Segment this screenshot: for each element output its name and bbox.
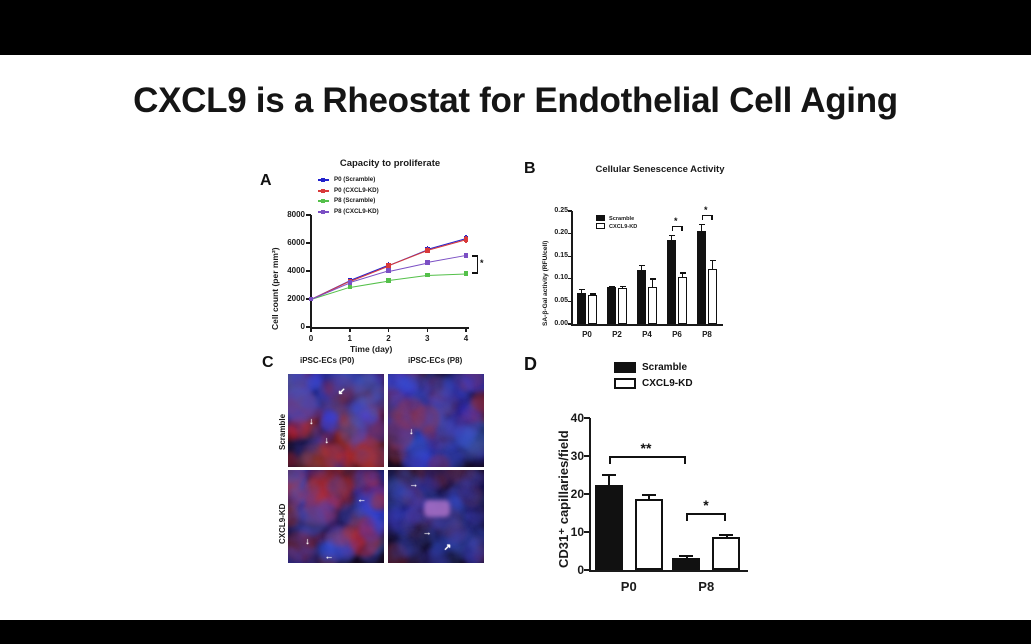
- micrograph-arrow-marker: ↓: [309, 417, 314, 426]
- panel-b-y-tick: [568, 301, 572, 302]
- panel-a-x-tick-label: 1: [342, 334, 358, 343]
- panel-d-y-tick: [584, 493, 590, 495]
- panel-d-error-cap: [602, 474, 616, 476]
- panel-a-x-tick: [427, 327, 429, 332]
- micrograph-blob: [371, 494, 384, 510]
- panel-b-bar: [588, 295, 597, 324]
- micrograph-arrow-marker: ↓: [305, 537, 310, 546]
- slide-title: CXCL9 is a Rheostat for Endothelial Cell…: [0, 81, 1031, 121]
- panel-a-title: Capacity to proliferate: [300, 158, 480, 169]
- panel-a-legend-marker: [321, 199, 325, 203]
- panel-b-y-tick: [568, 233, 572, 234]
- panel-b-y-tick: [568, 210, 572, 211]
- micrograph-arrow-marker: ↙: [338, 387, 346, 396]
- panel-a-data-point: [386, 263, 391, 268]
- bracket-right: [681, 226, 682, 231]
- panel-a-series-line: [427, 240, 466, 252]
- bracket-left: [609, 456, 611, 464]
- panel-d-y-tick: [584, 569, 590, 571]
- panel-a-legend-label: P0 (CXCL9-KD): [334, 187, 379, 194]
- panel-c-row-label-cxcl9kd: CXCL9-KD: [278, 504, 287, 544]
- panel-a-legend-label: P0 (Scramble): [334, 176, 375, 183]
- panel-a-legend-label: P8 (CXCL9-KD): [334, 208, 379, 215]
- panel-d-letter: D: [524, 354, 537, 375]
- panel-d-legend-label: CXCL9-KD: [642, 378, 693, 389]
- panel-a-data-point: [464, 253, 469, 258]
- panel-c: C iPSC-ECs (P0) iPSC-ECs (P8) Scramble C…: [258, 352, 508, 602]
- panel-a-significance-bracket: [472, 255, 478, 273]
- panel-a-legend-marker: [321, 210, 325, 214]
- panel-b-significance-bracket: [672, 226, 683, 231]
- panel-b-x-tick-label: P8: [693, 330, 721, 339]
- panel-b-x-tick-label: P2: [603, 330, 631, 339]
- panel-b-bar: [648, 287, 657, 324]
- panel-b-error-cap: [620, 286, 626, 287]
- panel-d-y-tick: [584, 455, 590, 457]
- panel-b-bar: [618, 288, 627, 324]
- panel-b-bar: [697, 231, 706, 324]
- panel-c-col-header-p8: iPSC-ECs (P8): [408, 356, 462, 365]
- micrograph-arrow-marker: ↗: [444, 543, 452, 552]
- panel-b-y-tick-label: 0.20: [542, 229, 568, 236]
- panel-b-bar: [678, 277, 687, 324]
- micrograph-arrow-marker: ↓: [409, 427, 414, 436]
- panel-b-legend-swatch: [596, 215, 605, 221]
- panel-b-error-cap: [669, 235, 675, 236]
- panel-d-x-axis: [589, 570, 748, 572]
- panel-b-title: Cellular Senescence Activity: [560, 164, 760, 175]
- panel-a-data-point: [425, 273, 430, 278]
- panel-b-bar: [637, 270, 646, 324]
- bracket-left: [702, 215, 703, 220]
- panel-b-bar: [667, 240, 676, 324]
- panel-b-error-cap: [650, 278, 656, 279]
- panel-a-data-point: [464, 271, 469, 276]
- panel-a-plot-area: 0200040006000800001234*: [311, 215, 466, 327]
- panel-a-y-tick: [306, 214, 311, 216]
- panel-d-y-tick: [584, 531, 590, 533]
- scramble-p0-micrograph: ↙↓↓: [288, 374, 384, 467]
- panel-d-significance-bracket-p0-p8: [609, 456, 687, 464]
- panel-a-x-tick: [310, 327, 312, 332]
- panel-a-data-point: [348, 285, 353, 290]
- scramble-p8-micrograph: ↓: [388, 374, 484, 467]
- letterbox-bottom: [0, 620, 1031, 644]
- panel-d-y-tick: [584, 417, 590, 419]
- slide-canvas: CXCL9 is a Rheostat for Endothelial Cell…: [0, 55, 1031, 620]
- panel-b-error-cap: [639, 265, 645, 266]
- bracket-spine: [477, 255, 479, 273]
- cxcl9kd-p0-micrograph: ←↓←: [288, 470, 384, 563]
- panel-a-x-tick-label: 3: [419, 334, 435, 343]
- panel-b-significance-star: *: [704, 207, 708, 213]
- panel-b-significance-bracket: [702, 215, 713, 220]
- panel-d-significance-bracket-p8: [686, 513, 726, 521]
- panel-b-bar: [607, 287, 616, 324]
- panel-a-x-tick-label: 4: [458, 334, 474, 343]
- micrograph-bright-cell: [424, 500, 450, 517]
- panel-b-error-cap: [699, 224, 705, 225]
- bracket-right: [724, 513, 726, 521]
- micrograph-blob: [354, 474, 367, 487]
- micrograph-arrow-marker: ←: [324, 552, 333, 561]
- letterbox-top: [0, 0, 1031, 55]
- micrograph-blob: [396, 378, 411, 393]
- micrograph-blob: [333, 527, 353, 547]
- panel-b-legend-label: CXCL9-KD: [609, 224, 637, 230]
- micrograph-arrow-marker: →: [423, 528, 432, 537]
- panel-a-y-axis-label: Cell count (per mm²): [270, 247, 280, 330]
- panel-b-y-tick: [568, 256, 572, 257]
- panel-a-data-point: [386, 268, 391, 273]
- micrograph-blob: [412, 405, 439, 432]
- panel-a-x-tick: [349, 327, 351, 332]
- panel-d-bar: [672, 558, 700, 570]
- bracket-arm-top: [472, 255, 478, 257]
- panel-b-x-axis: [571, 324, 723, 326]
- bracket-right: [711, 215, 712, 220]
- micrograph-arrow-marker: ↓: [324, 436, 329, 445]
- panel-c-col-header-p0: iPSC-ECs (P0): [300, 356, 354, 365]
- panel-a-series-line: [350, 280, 389, 287]
- bracket-right: [684, 456, 686, 464]
- panel-a-x-tick: [465, 327, 467, 332]
- panel-a: A Capacity to proliferate P0 (Scramble)P…: [258, 158, 508, 355]
- panel-a-x-axis: [310, 327, 469, 329]
- panel-c-row-label-scramble: Scramble: [278, 414, 287, 450]
- panel-b-y-axis: [571, 211, 573, 325]
- panel-b: B Cellular Senescence Activity 0.000.050…: [520, 158, 760, 355]
- panel-d-y-tick-label: 40: [558, 411, 584, 425]
- panel-b-y-tick: [568, 323, 572, 324]
- panel-a-legend-marker: [321, 178, 325, 182]
- panel-d-plot-area: 010203040P0P8***ScrambleCXCL9-KD: [590, 418, 745, 570]
- panel-d-legend-swatch: [614, 362, 636, 373]
- panel-d-legend-swatch: [614, 378, 636, 389]
- panel-a-y-tick: [306, 242, 311, 244]
- panel-b-bar: [708, 269, 717, 324]
- panel-a-x-tick-label: 0: [303, 334, 319, 343]
- cxcl9kd-p8-micrograph: →→↗: [388, 470, 484, 563]
- panel-b-error-cap: [579, 289, 585, 290]
- panel-d-y-axis-label: CD31⁺ capillaries/field: [556, 430, 572, 568]
- panel-d-error-cap: [642, 494, 656, 496]
- panel-a-data-point: [348, 280, 353, 285]
- panel-b-x-tick-label: P6: [663, 330, 691, 339]
- panel-b-error-cap: [590, 293, 596, 294]
- panel-a-series-line: [427, 255, 466, 263]
- panel-a-legend-label: P8 (Scramble): [334, 197, 375, 204]
- micrograph-arrow-marker: ←: [357, 495, 366, 504]
- micrograph-blob: [361, 456, 380, 467]
- panel-d-x-tick-label: P0: [605, 579, 653, 594]
- panel-d-bar: [712, 537, 740, 570]
- panel-a-letter: A: [260, 172, 272, 190]
- bracket-left: [686, 513, 688, 521]
- panel-d: D 010203040P0P8***ScrambleCXCL9-KD CD31⁺…: [520, 352, 780, 602]
- panel-b-error-cap: [680, 272, 686, 273]
- panel-a-y-tick-label: 8000: [275, 210, 305, 219]
- panel-a-series-line: [311, 283, 350, 300]
- micrograph-arrow-marker: →: [409, 480, 418, 489]
- panel-b-legend-label: Scramble: [609, 216, 634, 222]
- panel-b-significance-star: *: [674, 218, 678, 224]
- panel-a-data-point: [386, 278, 391, 283]
- panel-a-data-point: [425, 248, 430, 253]
- panel-a-data-point: [464, 237, 469, 242]
- panel-b-y-tick-label: 0.25: [542, 207, 568, 214]
- micrograph-blob: [457, 477, 473, 493]
- panel-b-x-tick-label: P4: [633, 330, 661, 339]
- panel-d-legend-label: Scramble: [642, 362, 687, 373]
- panel-a-significance-star: *: [480, 260, 484, 266]
- panel-b-error-cap: [609, 286, 615, 287]
- panel-a-x-tick: [388, 327, 390, 332]
- micrograph-blob: [297, 548, 319, 563]
- panel-a-series-line: [388, 275, 427, 281]
- panel-b-y-tick: [568, 278, 572, 279]
- micrograph-blob: [310, 485, 338, 513]
- panel-c-letter: C: [262, 354, 274, 372]
- panel-a-y-tick-label: 6000: [275, 238, 305, 247]
- panel-b-plot-area: 0.000.050.100.150.200.25P0P2P4P6P8**Scra…: [572, 211, 722, 324]
- micrograph-blob: [427, 438, 441, 452]
- panel-d-bar: [595, 485, 623, 570]
- panel-a-data-point: [425, 260, 430, 265]
- micrograph-blob: [477, 450, 484, 462]
- panel-a-legend-marker: [321, 189, 325, 193]
- micrograph-blob: [391, 537, 413, 559]
- panel-a-series-line: [427, 274, 466, 277]
- bracket-left: [672, 226, 673, 231]
- panel-a-x-tick-label: 2: [381, 334, 397, 343]
- panel-a-y-tick: [306, 270, 311, 272]
- panel-d-bar: [635, 499, 663, 570]
- micrograph-blob: [352, 375, 381, 404]
- panel-b-bar: [577, 293, 586, 324]
- panel-d-error-cap: [679, 555, 693, 557]
- panel-b-letter: B: [524, 160, 536, 178]
- bracket-top: [686, 513, 726, 515]
- micrograph-blob: [294, 379, 305, 390]
- panel-d-significance-star-1: **: [641, 445, 652, 451]
- panel-d-x-tick-label: P8: [682, 579, 730, 594]
- bracket-top: [609, 456, 687, 458]
- panel-d-error-cap: [719, 534, 733, 536]
- panel-d-significance-star-2: *: [703, 502, 708, 508]
- bracket-arm-bottom: [472, 272, 478, 274]
- panel-a-data-point: [309, 297, 314, 302]
- panel-b-legend-swatch: [596, 223, 605, 229]
- panel-b-y-axis-label: SA-β-Gal activity (RFU/cell): [542, 241, 549, 326]
- panel-b-error-cap: [710, 260, 716, 261]
- panel-b-x-tick-label: P0: [573, 330, 601, 339]
- micrograph-blob: [434, 376, 454, 396]
